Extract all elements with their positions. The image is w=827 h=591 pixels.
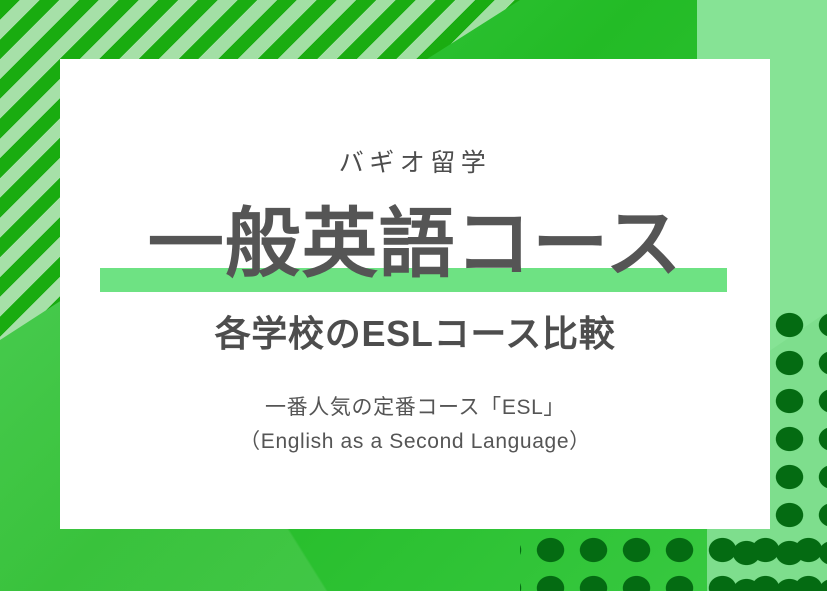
headline-container: 一般英語コース <box>60 206 770 292</box>
content-card: バギオ留学 一般英語コース 各学校のESLコース比較 一番人気の定番コース「ES… <box>60 59 770 529</box>
background-dot-pattern-bottom <box>520 527 827 591</box>
note-line-primary: 一番人気の定番コース「ESL」 <box>239 391 591 425</box>
eyebrow-label: バギオ留学 <box>339 151 492 176</box>
poster-canvas: バギオ留学 一般英語コース 各学校のESLコース比較 一番人気の定番コース「ES… <box>0 0 827 591</box>
note-line-secondary: （English as a Second Language） <box>239 425 591 459</box>
note-block: 一番人気の定番コース「ESL」 （English as a Second Lan… <box>239 391 591 459</box>
page-subtitle: 各学校のESLコース比較 <box>215 314 616 354</box>
page-title: 一般英語コース <box>148 206 683 292</box>
